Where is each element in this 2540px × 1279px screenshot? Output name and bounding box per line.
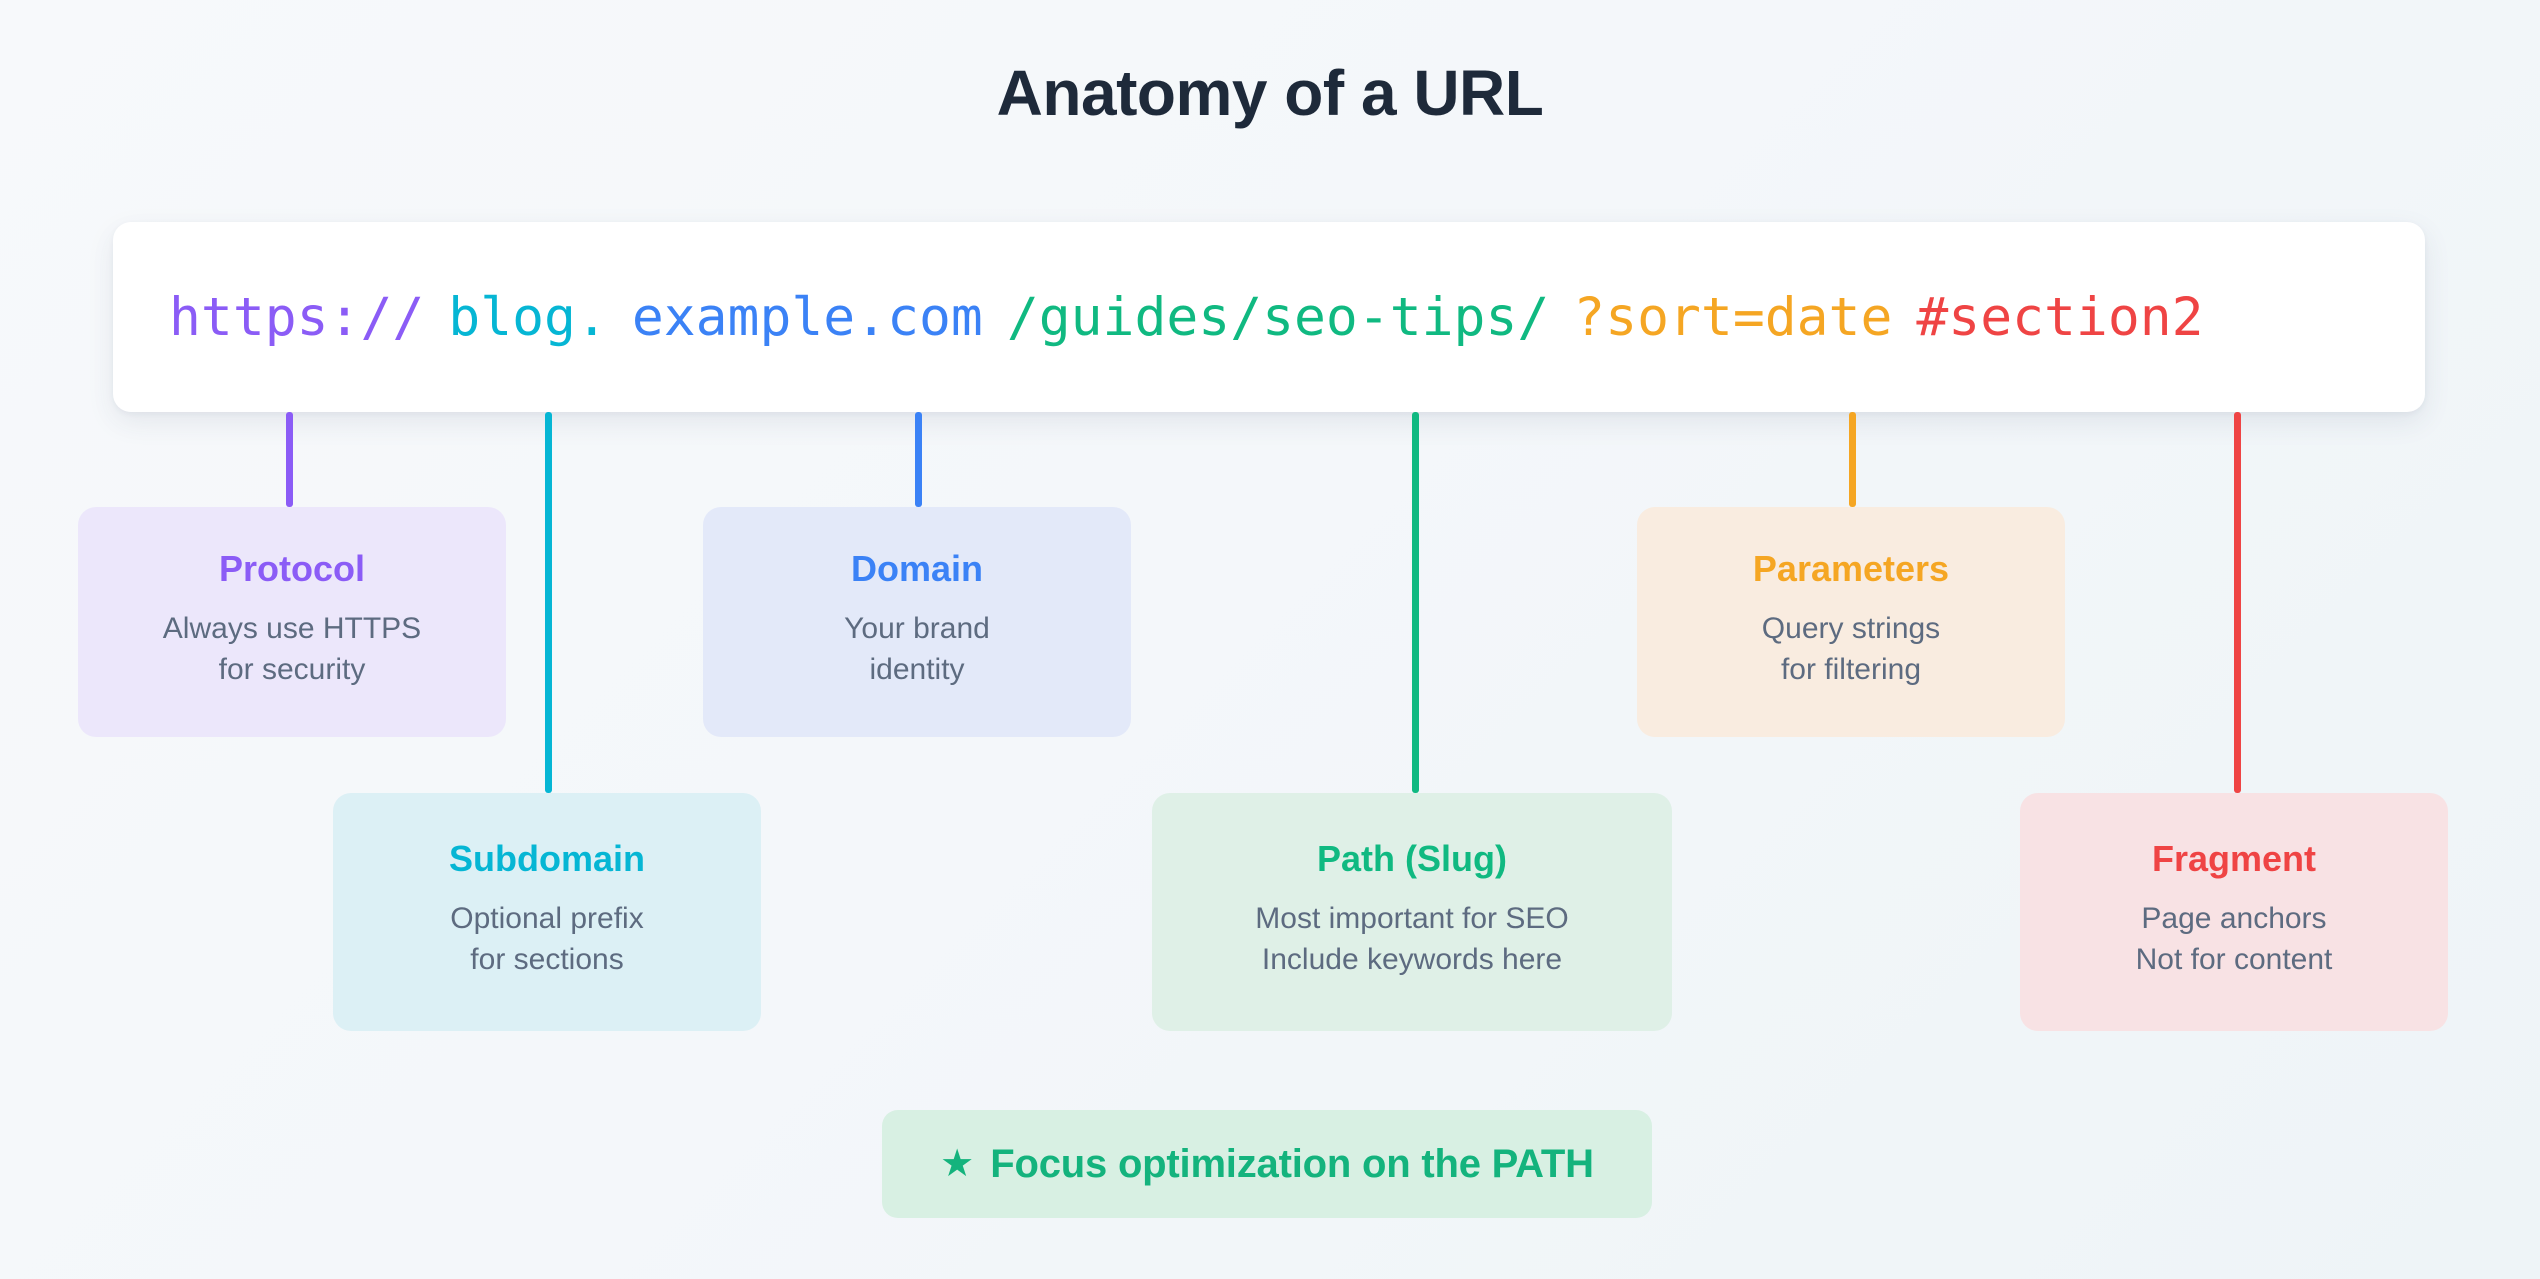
url-bar-card: https://blog.example.com/guides/seo-tips…: [113, 222, 2425, 412]
url-string: https://blog.example.com/guides/seo-tips…: [169, 291, 2204, 344]
info-card-protocol: ProtocolAlways use HTTPSfor security: [78, 507, 506, 737]
star-icon: ★: [940, 1145, 974, 1183]
info-card-desc-subdomain: Optional prefixfor sections: [450, 899, 643, 980]
connector-line-fragment: [2234, 412, 2241, 793]
info-card-path: Path (Slug)Most important for SEOInclude…: [1152, 793, 1672, 1031]
info-card-title-domain: Domain: [851, 550, 983, 588]
url-segment-subdomain: blog.: [448, 287, 608, 348]
info-card-domain: DomainYour brandidentity: [703, 507, 1131, 737]
info-card-desc-line: for security: [163, 650, 421, 691]
info-card-parameters: ParametersQuery stringsfor filtering: [1637, 507, 2065, 737]
diagram-canvas: Anatomy of a URL https://blog.example.co…: [0, 0, 2540, 1279]
info-card-desc-line: identity: [844, 650, 990, 691]
info-card-desc-line: Page anchors: [2136, 899, 2333, 940]
info-card-desc-line: Always use HTTPS: [163, 609, 421, 650]
info-card-desc-line: Query strings: [1762, 609, 1940, 650]
connector-line-protocol: [286, 412, 293, 507]
info-card-fragment: FragmentPage anchorsNot for content: [2020, 793, 2448, 1031]
info-card-desc-domain: Your brandidentity: [844, 609, 990, 690]
footer-tip-banner: ★ Focus optimization on the PATH: [882, 1110, 1652, 1218]
page-title: Anatomy of a URL: [0, 56, 2540, 130]
url-segment-path: /guides/seo-tips/: [1007, 287, 1549, 348]
info-card-desc-line: Include keywords here: [1255, 940, 1568, 981]
info-card-title-fragment: Fragment: [2152, 840, 2316, 878]
info-card-desc-fragment: Page anchorsNot for content: [2136, 899, 2333, 980]
info-card-desc-line: for sections: [450, 940, 643, 981]
info-card-desc-line: for filtering: [1762, 650, 1940, 691]
url-segment-domain: example.com: [632, 287, 983, 348]
info-card-desc-line: Most important for SEO: [1255, 899, 1568, 940]
info-card-title-parameters: Parameters: [1753, 550, 1949, 588]
url-segment-fragment: #section2: [1916, 287, 2203, 348]
url-segment-protocol: https://: [169, 287, 424, 348]
info-card-desc-protocol: Always use HTTPSfor security: [163, 609, 421, 690]
info-card-desc-line: Optional prefix: [450, 899, 643, 940]
footer-tip-text: Focus optimization on the PATH: [990, 1142, 1594, 1187]
connector-line-path: [1412, 412, 1419, 793]
info-card-desc-line: Not for content: [2136, 940, 2333, 981]
info-card-subdomain: SubdomainOptional prefixfor sections: [333, 793, 761, 1031]
info-card-desc-path: Most important for SEOInclude keywords h…: [1255, 899, 1568, 980]
info-card-desc-line: Your brand: [844, 609, 990, 650]
connector-line-domain: [915, 412, 922, 507]
info-card-title-path: Path (Slug): [1317, 840, 1507, 878]
connector-line-parameters: [1849, 412, 1856, 507]
url-segment-query: ?sort=date: [1573, 287, 1892, 348]
info-card-title-protocol: Protocol: [219, 550, 365, 588]
info-card-title-subdomain: Subdomain: [449, 840, 645, 878]
connector-line-subdomain: [545, 412, 552, 793]
info-card-desc-parameters: Query stringsfor filtering: [1762, 609, 1940, 690]
